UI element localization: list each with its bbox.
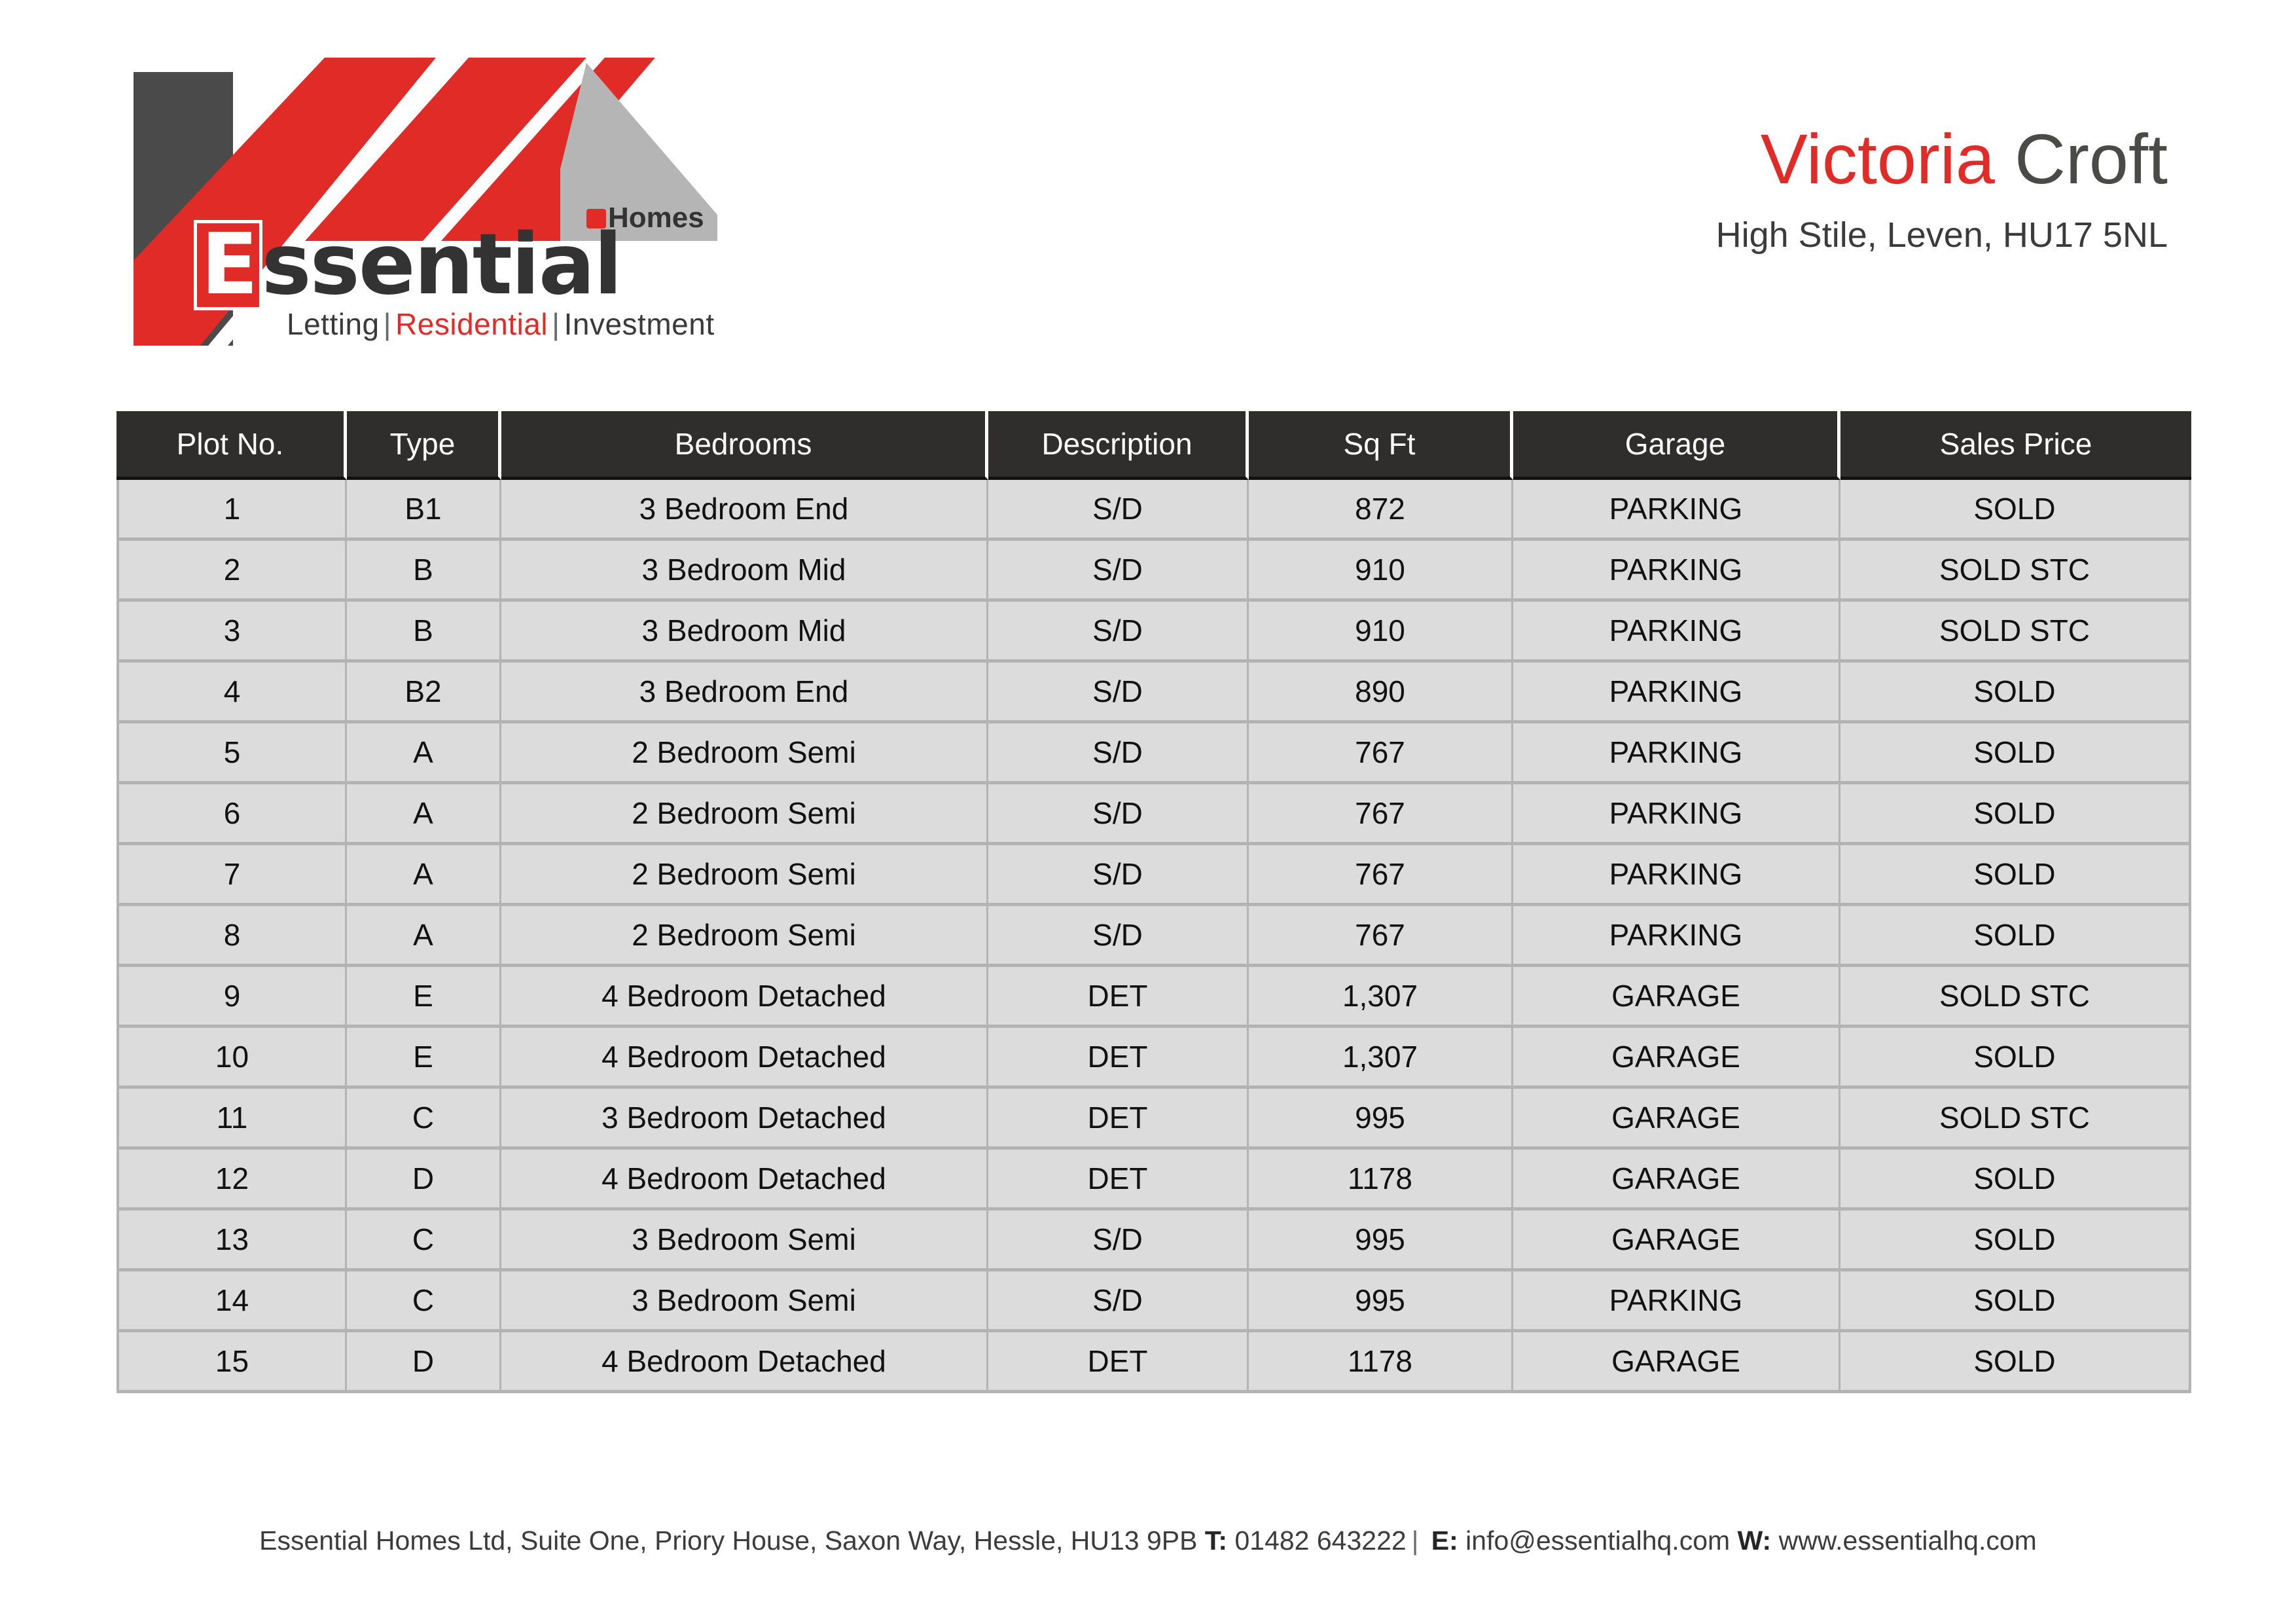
cell-sales-price: SOLD bbox=[1840, 1028, 2191, 1089]
cell-bedrooms: 3 Bedroom End bbox=[501, 480, 988, 541]
cell-sq-ft: 910 bbox=[1249, 602, 1513, 663]
cell-plot-no: 10 bbox=[117, 1028, 347, 1089]
table-row[interactable]: 13C3 Bedroom SemiS/D995GARAGESOLD bbox=[117, 1211, 2191, 1271]
cell-sales-price: SOLD bbox=[1840, 1150, 2191, 1211]
table-row[interactable]: 8A2 Bedroom SemiS/D767PARKINGSOLD bbox=[117, 906, 2191, 967]
cell-plot-no: 13 bbox=[117, 1211, 347, 1271]
cell-bedrooms: 4 Bedroom Detached bbox=[501, 1028, 988, 1089]
cell-sales-price: SOLD bbox=[1840, 663, 2191, 723]
cell-type: B bbox=[347, 541, 501, 602]
cell-type: B1 bbox=[347, 480, 501, 541]
footer-separator: | bbox=[1407, 1525, 1424, 1556]
footer-contact-line: Essential Homes Ltd, Suite One, Priory H… bbox=[0, 1525, 2296, 1556]
cell-description: S/D bbox=[988, 480, 1249, 541]
tagline-investment: Investment bbox=[564, 307, 715, 341]
cell-description: S/D bbox=[988, 1211, 1249, 1271]
cell-sales-price: SOLD STC bbox=[1840, 541, 2191, 602]
cell-sq-ft: 767 bbox=[1249, 723, 1513, 784]
plot-schedule: Plot No. Type Bedrooms Description Sq Ft… bbox=[117, 411, 2191, 1393]
cell-plot-no: 14 bbox=[117, 1271, 347, 1332]
tagline-separator-1: | bbox=[380, 307, 395, 341]
column-header-garage[interactable]: Garage bbox=[1513, 411, 1840, 480]
column-header-bedrooms[interactable]: Bedrooms bbox=[501, 411, 988, 480]
cell-sales-price: SOLD bbox=[1840, 1211, 2191, 1271]
cell-plot-no: 2 bbox=[117, 541, 347, 602]
footer-web-label: W: bbox=[1738, 1525, 1772, 1556]
cell-sales-price: SOLD bbox=[1840, 480, 2191, 541]
cell-plot-no: 7 bbox=[117, 845, 347, 906]
cell-plot-no: 3 bbox=[117, 602, 347, 663]
cell-type: D bbox=[347, 1332, 501, 1393]
table-row[interactable]: 12D4 Bedroom DetachedDET1178GARAGESOLD bbox=[117, 1150, 2191, 1211]
cell-description: DET bbox=[988, 1150, 1249, 1211]
cell-sq-ft: 767 bbox=[1249, 784, 1513, 845]
table-row[interactable]: 9E4 Bedroom DetachedDET1,307GARAGESOLD S… bbox=[117, 967, 2191, 1028]
cell-type: D bbox=[347, 1150, 501, 1211]
cell-garage: PARKING bbox=[1513, 845, 1840, 906]
table-row[interactable]: 7A2 Bedroom SemiS/D767PARKINGSOLD bbox=[117, 845, 2191, 906]
cell-plot-no: 8 bbox=[117, 906, 347, 967]
table-row[interactable]: 3B3 Bedroom MidS/D910PARKINGSOLD STC bbox=[117, 602, 2191, 663]
cell-garage: PARKING bbox=[1513, 784, 1840, 845]
cell-sq-ft: 1178 bbox=[1249, 1332, 1513, 1393]
table-row[interactable]: 5A2 Bedroom SemiS/D767PARKINGSOLD bbox=[117, 723, 2191, 784]
cell-plot-no: 9 bbox=[117, 967, 347, 1028]
cell-type: A bbox=[347, 784, 501, 845]
table-header-row: Plot No. Type Bedrooms Description Sq Ft… bbox=[117, 411, 2191, 480]
cell-garage: PARKING bbox=[1513, 1271, 1840, 1332]
cell-garage: GARAGE bbox=[1513, 967, 1840, 1028]
cell-type: A bbox=[347, 723, 501, 784]
cell-type: A bbox=[347, 845, 501, 906]
development-address: High Stile, Leven, HU17 5NL bbox=[1716, 215, 2168, 255]
cell-sq-ft: 890 bbox=[1249, 663, 1513, 723]
logo-homes-label: Homes bbox=[586, 202, 704, 234]
logo-e-badge: E bbox=[194, 220, 262, 310]
cell-garage: GARAGE bbox=[1513, 1332, 1840, 1393]
cell-sq-ft: 872 bbox=[1249, 480, 1513, 541]
cell-plot-no: 15 bbox=[117, 1332, 347, 1393]
cell-type: A bbox=[347, 906, 501, 967]
cell-bedrooms: 3 Bedroom Semi bbox=[501, 1271, 988, 1332]
cell-plot-no: 6 bbox=[117, 784, 347, 845]
cell-description: S/D bbox=[988, 1271, 1249, 1332]
cell-sales-price: SOLD bbox=[1840, 784, 2191, 845]
logo-homes-text: Homes bbox=[608, 202, 704, 234]
cell-type: C bbox=[347, 1271, 501, 1332]
column-header-description[interactable]: Description bbox=[988, 411, 1249, 480]
cell-bedrooms: 3 Bedroom Detached bbox=[501, 1089, 988, 1150]
cell-sales-price: SOLD STC bbox=[1840, 1089, 2191, 1150]
cell-description: DET bbox=[988, 1028, 1249, 1089]
page-title: Victoria Croft bbox=[1716, 121, 2168, 198]
cell-description: S/D bbox=[988, 723, 1249, 784]
cell-garage: GARAGE bbox=[1513, 1089, 1840, 1150]
logo-homes-dot-icon bbox=[586, 209, 606, 228]
cell-bedrooms: 4 Bedroom Detached bbox=[501, 1332, 988, 1393]
cell-type: C bbox=[347, 1211, 501, 1271]
cell-bedrooms: 3 Bedroom Mid bbox=[501, 541, 988, 602]
tagline-residential: Residential bbox=[395, 307, 548, 341]
cell-type: E bbox=[347, 967, 501, 1028]
development-title-block: Victoria Croft High Stile, Leven, HU17 5… bbox=[1716, 121, 2168, 255]
cell-garage: GARAGE bbox=[1513, 1150, 1840, 1211]
cell-sales-price: SOLD bbox=[1840, 906, 2191, 967]
cell-garage: GARAGE bbox=[1513, 1028, 1840, 1089]
cell-description: DET bbox=[988, 1332, 1249, 1393]
column-header-sales-price[interactable]: Sales Price bbox=[1840, 411, 2191, 480]
cell-plot-no: 4 bbox=[117, 663, 347, 723]
cell-bedrooms: 3 Bedroom Semi bbox=[501, 1211, 988, 1271]
cell-bedrooms: 2 Bedroom Semi bbox=[501, 906, 988, 967]
footer-web-value[interactable]: www.essentialhq.com bbox=[1779, 1525, 2037, 1556]
footer-email-label: E: bbox=[1431, 1525, 1458, 1556]
tagline-letting: Letting bbox=[287, 307, 380, 341]
cell-sq-ft: 995 bbox=[1249, 1211, 1513, 1271]
cell-bedrooms: 3 Bedroom Mid bbox=[501, 602, 988, 663]
cell-description: S/D bbox=[988, 541, 1249, 602]
cell-sq-ft: 1178 bbox=[1249, 1150, 1513, 1211]
cell-bedrooms: 4 Bedroom Detached bbox=[501, 1150, 988, 1211]
table-row[interactable]: 10E4 Bedroom DetachedDET1,307GARAGESOLD bbox=[117, 1028, 2191, 1089]
cell-bedrooms: 3 Bedroom End bbox=[501, 663, 988, 723]
cell-garage: PARKING bbox=[1513, 480, 1840, 541]
cell-description: S/D bbox=[988, 845, 1249, 906]
table-row[interactable]: 14C3 Bedroom SemiS/D995PARKINGSOLD bbox=[117, 1271, 2191, 1332]
cell-description: S/D bbox=[988, 602, 1249, 663]
cell-garage: PARKING bbox=[1513, 663, 1840, 723]
cell-sq-ft: 995 bbox=[1249, 1089, 1513, 1150]
cell-description: DET bbox=[988, 967, 1249, 1028]
footer-tel-label: T: bbox=[1205, 1525, 1227, 1556]
column-header-plot-no[interactable]: Plot No. bbox=[117, 411, 347, 480]
company-logo: Essential Homes Letting|Residential|Inve… bbox=[128, 45, 717, 346]
table-row[interactable]: 4B23 Bedroom EndS/D890PARKINGSOLD bbox=[117, 663, 2191, 723]
plot-schedule-table: Plot No. Type Bedrooms Description Sq Ft… bbox=[117, 411, 2191, 1393]
logo-tagline: Letting|Residential|Investment bbox=[287, 306, 715, 342]
column-header-sq-ft[interactable]: Sq Ft bbox=[1249, 411, 1513, 480]
cell-sales-price: SOLD bbox=[1840, 1332, 2191, 1393]
cell-sales-price: SOLD bbox=[1840, 723, 2191, 784]
tagline-separator-2: | bbox=[548, 307, 564, 341]
cell-plot-no: 11 bbox=[117, 1089, 347, 1150]
table-row[interactable]: 2B3 Bedroom MidS/D910PARKINGSOLD STC bbox=[117, 541, 2191, 602]
cell-plot-no: 12 bbox=[117, 1150, 347, 1211]
cell-garage: PARKING bbox=[1513, 723, 1840, 784]
cell-garage: PARKING bbox=[1513, 541, 1840, 602]
table-row[interactable]: 15D4 Bedroom DetachedDET1178GARAGESOLD bbox=[117, 1332, 2191, 1393]
table-body: 1B13 Bedroom EndS/D872PARKINGSOLD2B3 Bed… bbox=[117, 480, 2191, 1393]
page-footer: Essential Homes Ltd, Suite One, Priory H… bbox=[0, 1525, 2296, 1556]
development-name: Victoria bbox=[1761, 119, 1995, 198]
cell-sq-ft: 910 bbox=[1249, 541, 1513, 602]
cell-type: E bbox=[347, 1028, 501, 1089]
cell-bedrooms: 2 Bedroom Semi bbox=[501, 845, 988, 906]
table-row[interactable]: 1B13 Bedroom EndS/D872PARKINGSOLD bbox=[117, 480, 2191, 541]
logo-wordmark: Essential bbox=[194, 220, 621, 310]
development-suffix: Croft bbox=[2015, 119, 2168, 198]
cell-sq-ft: 995 bbox=[1249, 1271, 1513, 1332]
cell-bedrooms: 2 Bedroom Semi bbox=[501, 784, 988, 845]
cell-bedrooms: 4 Bedroom Detached bbox=[501, 967, 988, 1028]
cell-garage: PARKING bbox=[1513, 602, 1840, 663]
cell-sales-price: SOLD bbox=[1840, 1271, 2191, 1332]
cell-type: C bbox=[347, 1089, 501, 1150]
table-row[interactable]: 11C3 Bedroom DetachedDET995GARAGESOLD ST… bbox=[117, 1089, 2191, 1150]
cell-type: B bbox=[347, 602, 501, 663]
table-row[interactable]: 6A2 Bedroom SemiS/D767PARKINGSOLD bbox=[117, 784, 2191, 845]
page-header: Essential Homes Letting|Residential|Inve… bbox=[0, 0, 2296, 393]
cell-description: S/D bbox=[988, 663, 1249, 723]
cell-bedrooms: 2 Bedroom Semi bbox=[501, 723, 988, 784]
footer-email-value[interactable]: info@essentialhq.com bbox=[1465, 1525, 1730, 1556]
cell-plot-no: 1 bbox=[117, 480, 347, 541]
table-header: Plot No. Type Bedrooms Description Sq Ft… bbox=[117, 411, 2191, 480]
logo-wordmark-rest: ssential bbox=[261, 216, 621, 314]
cell-garage: GARAGE bbox=[1513, 1211, 1840, 1271]
cell-plot-no: 5 bbox=[117, 723, 347, 784]
cell-garage: PARKING bbox=[1513, 906, 1840, 967]
cell-description: S/D bbox=[988, 784, 1249, 845]
cell-sales-price: SOLD STC bbox=[1840, 967, 2191, 1028]
footer-company-address: Essential Homes Ltd, Suite One, Priory H… bbox=[259, 1525, 1197, 1556]
footer-tel-value: 01482 643222 bbox=[1234, 1525, 1406, 1556]
cell-sq-ft: 1,307 bbox=[1249, 967, 1513, 1028]
cell-description: DET bbox=[988, 1089, 1249, 1150]
cell-sales-price: SOLD bbox=[1840, 845, 2191, 906]
cell-type: B2 bbox=[347, 663, 501, 723]
cell-description: S/D bbox=[988, 906, 1249, 967]
cell-sq-ft: 1,307 bbox=[1249, 1028, 1513, 1089]
cell-sq-ft: 767 bbox=[1249, 845, 1513, 906]
column-header-type[interactable]: Type bbox=[347, 411, 501, 480]
cell-sales-price: SOLD STC bbox=[1840, 602, 2191, 663]
cell-sq-ft: 767 bbox=[1249, 906, 1513, 967]
